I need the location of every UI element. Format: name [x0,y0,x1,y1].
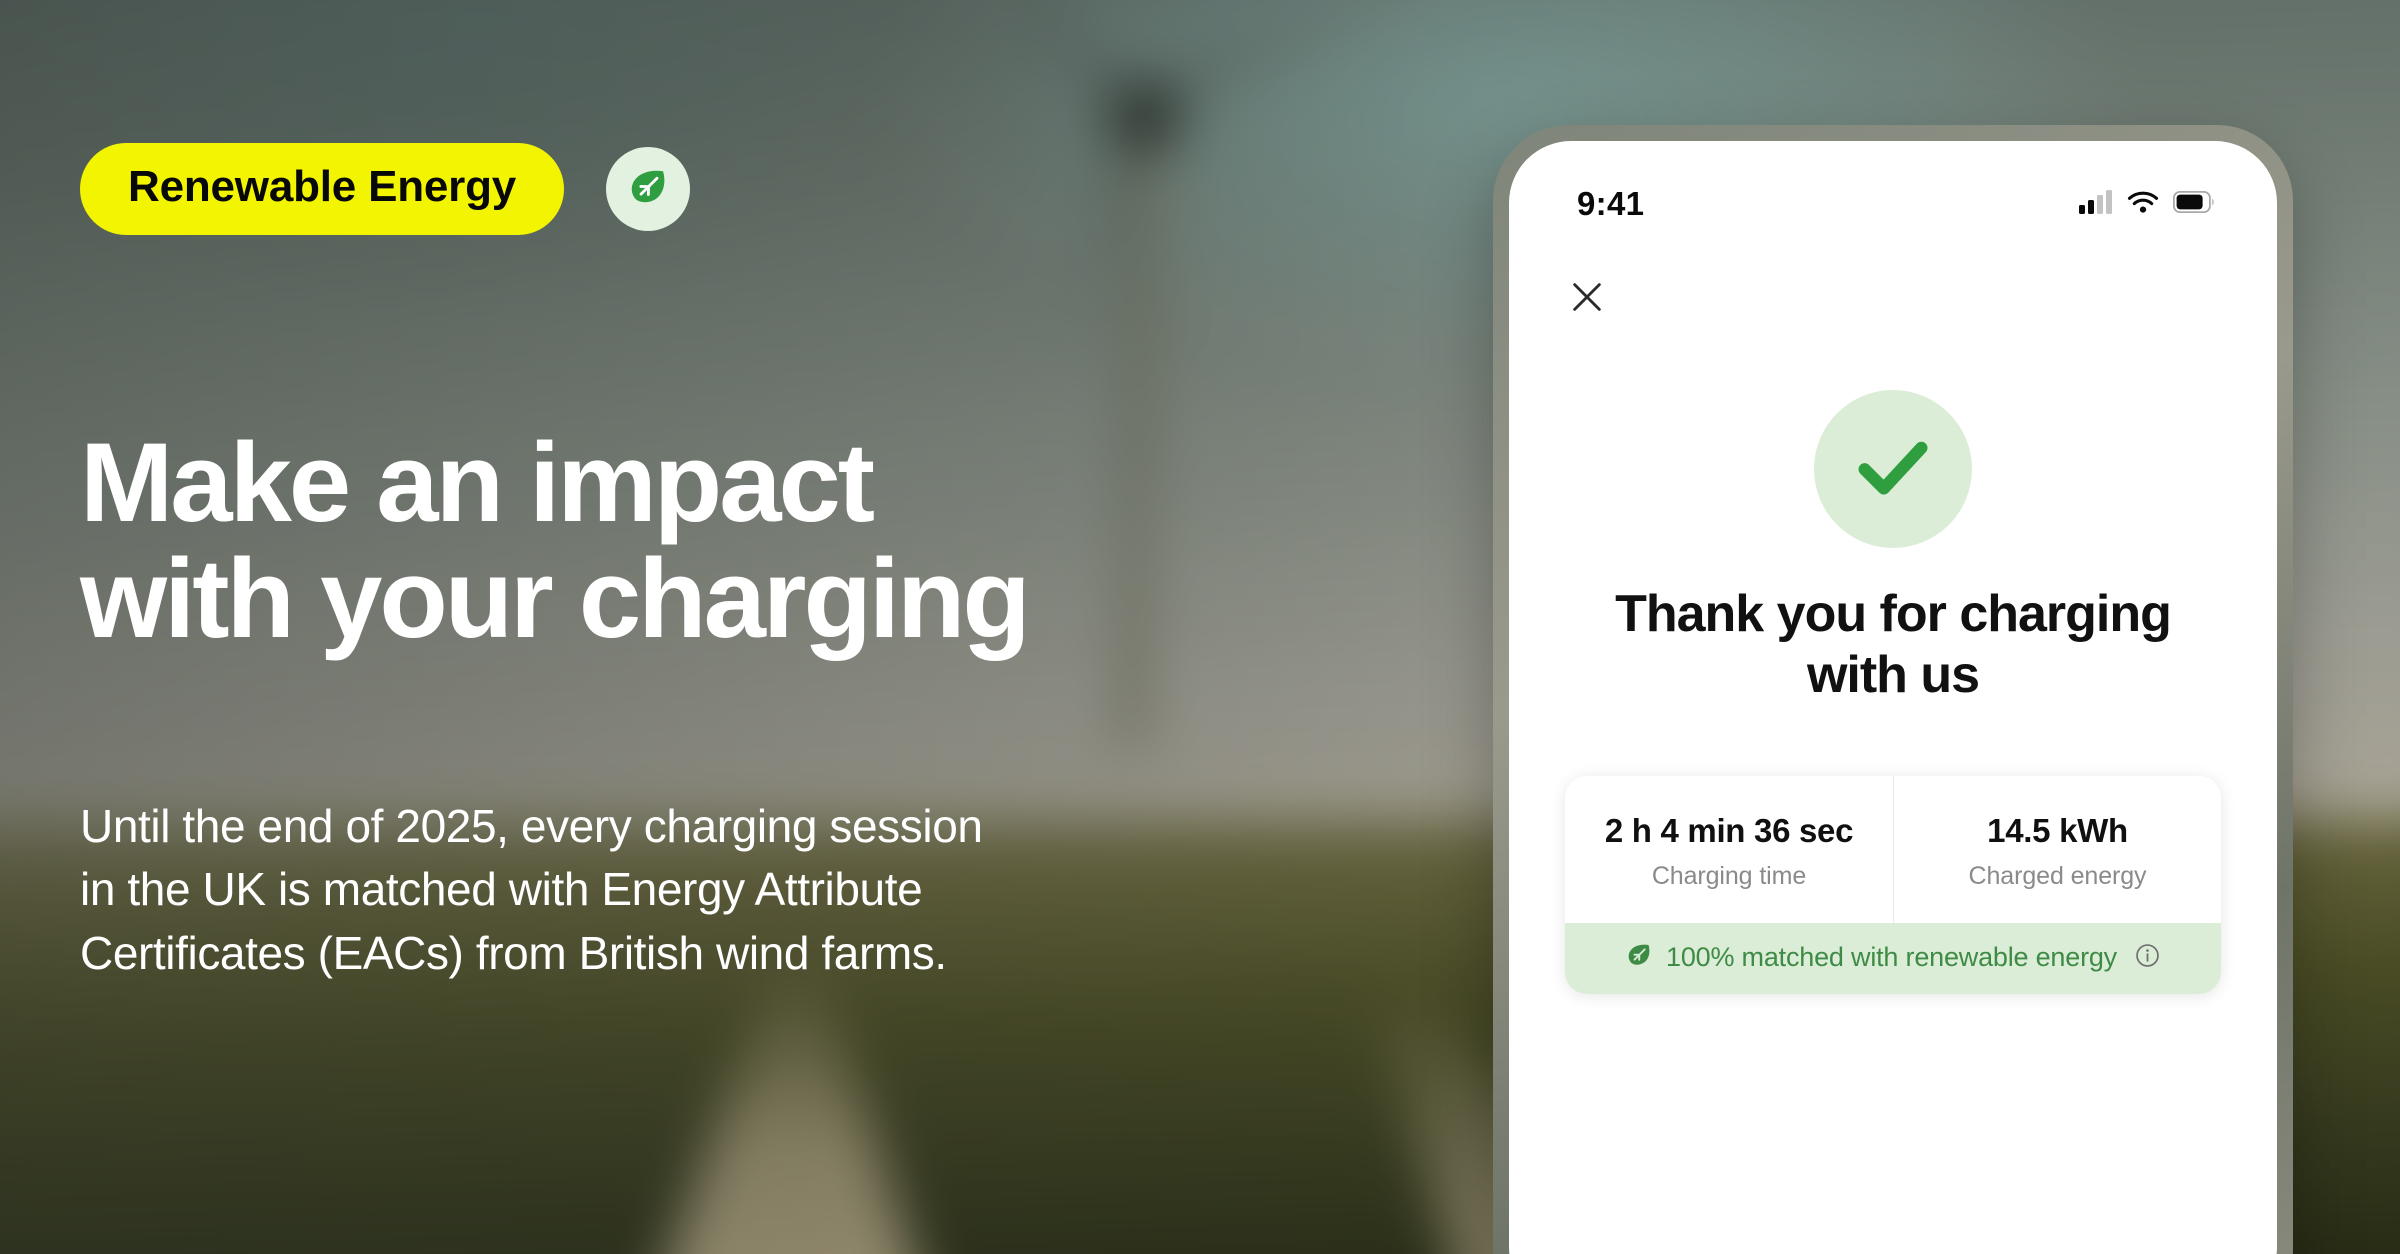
status-bar: 9:41 [1509,141,2277,237]
hero-content: Renewable Energy Make an impact with you… [80,0,1500,1254]
renewable-match-banner: 100% matched with renewable energy [1565,923,2221,994]
close-icon [1567,277,1607,322]
cellular-signal-icon [2079,190,2113,219]
leaf-icon [1625,941,1653,974]
info-icon [2134,942,2161,974]
success-badge [1814,390,1972,548]
badge-row: Renewable Energy [80,143,690,235]
stat-label: Charged energy [1908,862,2207,891]
phone-screen: 9:41 [1509,141,2277,1254]
renewable-energy-badge[interactable]: Renewable Energy [80,143,564,235]
wifi-icon [2127,190,2159,219]
stat-value: 2 h 4 min 36 sec [1579,812,1879,850]
renewable-match-text: 100% matched with renewable energy [1666,942,2117,973]
charging-summary-card: 2 h 4 min 36 sec Charging time 14.5 kWh … [1565,776,2221,994]
status-time: 9:41 [1577,185,1644,223]
stats-row: 2 h 4 min 36 sec Charging time 14.5 kWh … [1565,776,2221,923]
leaf-badge[interactable] [606,147,690,231]
success-title: Thank you for charging with us [1553,584,2233,706]
stat-charging-time: 2 h 4 min 36 sec Charging time [1565,776,1893,923]
status-icons [2079,190,2215,219]
renewable-energy-hero: Renewable Energy Make an impact with you… [0,0,2400,1254]
leaf-icon [626,165,670,214]
stat-label: Charging time [1579,862,1879,891]
check-icon [1847,421,1939,518]
close-button[interactable] [1555,267,1619,331]
info-button[interactable] [2134,942,2161,974]
hero-description: Until the end of 2025, every charging se… [80,795,1440,985]
page-title: Make an impact with your charging [80,425,1028,658]
stat-charged-energy: 14.5 kWh Charged energy [1893,776,2221,923]
battery-icon [2173,191,2215,218]
stat-value: 14.5 kWh [1908,812,2207,850]
phone-mockup: 9:41 [1493,125,2293,1254]
